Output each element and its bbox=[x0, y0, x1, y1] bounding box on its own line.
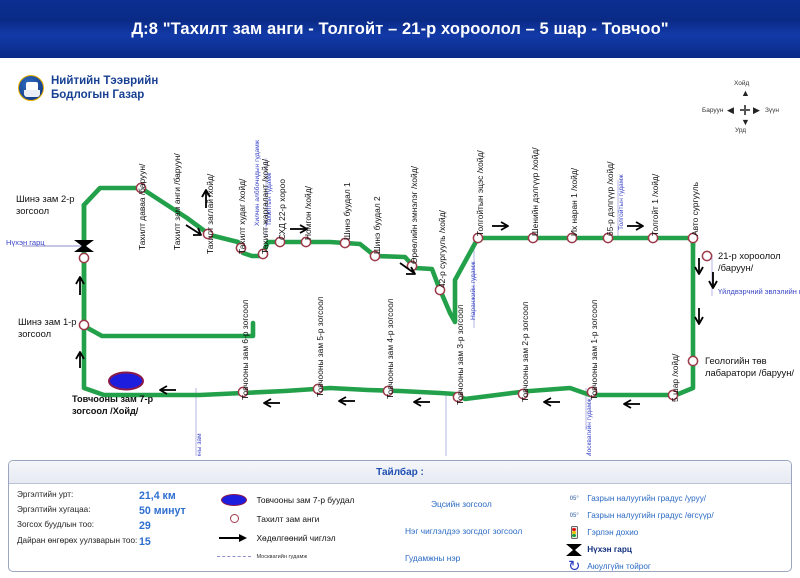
grade-up-icon: 05° bbox=[561, 496, 587, 502]
legend-right-row: Гэрлэн дохио bbox=[561, 524, 787, 541]
legend-stat-value: 15 bbox=[139, 536, 151, 548]
legend-symbol-label: Товчооны зам 7-р буудал bbox=[256, 495, 354, 505]
terminal-label-line2: зогсоол /Хойд/ bbox=[72, 406, 153, 418]
stop-label-line2: /баруун/ bbox=[718, 262, 781, 274]
stop-label-65r-delguur: 65-р дэлгүүр /хойд/ bbox=[605, 162, 616, 236]
legend-panel: Тайлбар : Эргэлтийн урт: 21,4 км Эргэлти… bbox=[8, 460, 792, 572]
legend-stat-row: Дайран өнгөрөх уулзварын тоо: 15 bbox=[17, 536, 208, 548]
roundabout-icon: ↻ bbox=[561, 560, 587, 572]
legend-right-row: 05° Газрын налуугийн градус /өгсүүр/ bbox=[561, 507, 787, 524]
stop-label-5-shar: 5 шар /хойд/ bbox=[670, 354, 681, 402]
legend-right-label: Аюулгүйн тойрог bbox=[587, 562, 651, 571]
legend-right-column: 05° Газрын налуугийн градус /уруу/ 05° Г… bbox=[561, 490, 787, 572]
stop-label-tovchoony-zam-4r: Товчооны зам 4-р зогсоол bbox=[385, 299, 396, 399]
stop-label-avto-surguuli: Авто сургууль bbox=[690, 182, 701, 236]
street-label-tolgoityn: Толгойтын гудамж bbox=[618, 174, 626, 230]
street-label-uildverchnii: Үйлдвэрчний эвлэлийн гудамж bbox=[718, 288, 790, 297]
stop-label-tovchoony-zam-1r: Товчооны зам 1-р зогсоол bbox=[589, 300, 600, 400]
stop-label-42r-surguuli: 42-р сургууль /хойд/ bbox=[437, 210, 448, 288]
legend-stat-label: Дайран өнгөрөх уулзварын тоо: bbox=[17, 536, 139, 546]
stop-label-tovchoony-zam-6r: Товчооны зам 6-р зогсоол bbox=[240, 300, 251, 400]
legend-stat-row: Эргэлтийн хугацаа: 50 минут bbox=[17, 505, 208, 517]
legend-header: Тайлбар : bbox=[9, 461, 791, 484]
legend-symbols-column: Товчооны зам 7-р буудал Тахилт зам анги … bbox=[208, 490, 403, 572]
legend-right-label: Нүхэн гарц bbox=[587, 545, 632, 554]
legend-middle-label: Эцсийн зогсоол bbox=[405, 490, 561, 517]
legend-stat-label: Эргэлтийн хугацаа: bbox=[17, 505, 139, 515]
stop-label-shenii-delguur: Шенийн дэлгүүр /хойд/ bbox=[530, 147, 541, 236]
stop-label-shd-22r-horoo: СХД 22-р хороо bbox=[277, 179, 288, 240]
stop-label-geologiin-tuv: Геологийн төв лабаратори /баруун/ bbox=[705, 355, 794, 379]
stop-label-shine-zam-2r: Шинэ зам 2-р зогсоол bbox=[16, 193, 75, 217]
stop-label-line1: Шинэ зам 1-р bbox=[18, 316, 77, 328]
blue-oval-terminal-icon bbox=[212, 494, 256, 506]
legend-right-label: Газрын налуугийн градус /өгсүүр/ bbox=[587, 511, 713, 520]
legend-symbol-row: Хөдөлгөөний чиглэл bbox=[212, 528, 403, 547]
legend-symbol-label: Хөдөлгөөний чиглэл bbox=[256, 533, 335, 543]
route-path bbox=[84, 205, 253, 336]
legend-stat-row: Зогсох буудлын тоо: 29 bbox=[17, 520, 208, 532]
legend-stat-label: Эргэлтийн урт: bbox=[17, 490, 139, 500]
legend-header-text: Тайлбар : bbox=[376, 467, 424, 478]
terminal-label-line1: Товчооны зам 7-р bbox=[72, 394, 153, 406]
legend-right-row: Нүхэн гарц bbox=[561, 541, 787, 558]
stop-label-line2: зогсоол bbox=[18, 328, 77, 340]
underpass-bowtie-glyph bbox=[565, 543, 583, 557]
legend-symbol-label: Москвагийн гудамж bbox=[256, 554, 307, 560]
stop-label-shine-buudal-1: Шинэ буудал 1 bbox=[342, 182, 353, 240]
stop-label-line2: лабаратори /баруун/ bbox=[705, 367, 794, 379]
legend-symbol-row: Товчооны зам 7-р буудал bbox=[212, 490, 403, 509]
stop-marker[interactable] bbox=[702, 251, 711, 260]
legend-symbol-row: Тахилт зам анги bbox=[212, 509, 403, 528]
legend-right-label: Газрын налуугийн градус /уруу/ bbox=[587, 494, 706, 503]
stop-label-tahilt-hudag: Тахилт худаг /хойд/ bbox=[237, 179, 248, 254]
legend-body: Эргэлтийн урт: 21,4 км Эргэлтийн хугацаа… bbox=[9, 484, 791, 572]
stop-label-ih-naran-1: Их наран 1 /хойд/ bbox=[569, 168, 580, 236]
legend-stat-row: Эргэлтийн урт: 21,4 км bbox=[17, 490, 208, 502]
stop-label-shine-zam-1r: Шинэ зам 1-р зогсоол bbox=[18, 316, 77, 340]
title-bar: Д:8 "Тахилт зам анги - Толгойт – 21-р хо… bbox=[0, 0, 800, 58]
page-title: Д:8 "Тахилт зам анги - Толгойт – 21-р хо… bbox=[131, 20, 668, 39]
stop-label-line1: 21-р хороолол bbox=[718, 250, 781, 262]
street-label-moskvagiin: Москвагийн гудамж bbox=[586, 398, 594, 456]
underpass-label: Нүхэн гарц bbox=[6, 238, 45, 247]
stop-label-tovchoony-zam-3r: Товчооны зам 3-р зогсоол bbox=[455, 305, 466, 405]
legend-middle-label: Гудамжны нэр bbox=[405, 544, 561, 571]
street-label-tahiltyn: Тахилтын гудамж bbox=[266, 173, 274, 226]
stop-marker[interactable] bbox=[79, 253, 88, 262]
stop-label-tovchoony-zam-5r: Товчооны зам 5-р зогсоол bbox=[315, 297, 326, 397]
stop-marker[interactable] bbox=[688, 356, 697, 365]
underpass-icon bbox=[561, 543, 587, 557]
stop-marker[interactable] bbox=[79, 320, 88, 329]
legend-right-row: ↻ Аюулгүйн тойрог bbox=[561, 558, 787, 572]
legend-right-label: Гэрлэн дохио bbox=[587, 528, 638, 537]
stop-label-line1: Геологийн төв bbox=[705, 355, 794, 367]
black-arrow-icon bbox=[212, 534, 256, 542]
street-label-hilchin: Хилчин алббочидын гудамж bbox=[254, 140, 262, 226]
street-label-tovchoony-zam: Товчооны зам bbox=[196, 433, 204, 456]
legend-stats-column: Эргэлтийн урт: 21,4 км Эргэлтийн хугацаа… bbox=[17, 490, 208, 572]
terminal-stop-label: Товчооны зам 7-р зогсоол /Хойд/ bbox=[72, 394, 153, 417]
stop-label-tolgoityn-etses: Толгойтын эцэс /хойд/ bbox=[475, 150, 486, 236]
traffic-light-icon bbox=[561, 526, 587, 539]
stop-label-urulin-emneleg: Өрөөлийн эмнэлэг /хойд/ bbox=[409, 166, 420, 264]
legend-symbol-label: Тахилт зам анги bbox=[256, 514, 319, 524]
stop-label-tahilt-zam-angi: Тахилт зам анги /баруун/ bbox=[172, 153, 183, 250]
stop-label-nomgon: Номгон /хойд/ bbox=[303, 186, 314, 240]
open-circle-stop-icon bbox=[212, 514, 256, 523]
stop-label-tolgoit-1: Толгойт 1 /хойд/ bbox=[650, 174, 661, 236]
legend-symbol-row: Москвагийн гудамж bbox=[212, 547, 403, 566]
stop-label-tahilt-davaa: Тахилт даваа /баруун/ bbox=[137, 164, 148, 250]
grade-down-icon: 05° bbox=[561, 513, 587, 519]
legend-stat-value: 29 bbox=[139, 520, 151, 532]
stop-label-tovchoony-zam-2r: Товчооны зам 2-р зогсоол bbox=[520, 302, 531, 402]
stop-markers-other bbox=[79, 251, 711, 401]
terminal-stop-marker[interactable] bbox=[109, 373, 143, 390]
legend-stat-value: 21,4 км bbox=[139, 490, 176, 502]
legend-middle-column: Эцсийн зогсоол Нэг чиглэлдээ зогсдог зог… bbox=[403, 490, 561, 572]
legend-middle-label: Нэг чиглэлдээ зогсдог зогсоол bbox=[405, 517, 561, 544]
stop-label-line1: Шинэ зам 2-р bbox=[16, 193, 75, 205]
stop-label-line2: зогсоол bbox=[16, 205, 75, 217]
dashed-line-icon bbox=[212, 556, 256, 557]
legend-stat-label: Зогсох буудлын тоо: bbox=[17, 520, 139, 530]
street-label-naranjiin: Наранжийн гудамж bbox=[470, 261, 478, 320]
stop-label-21r-horoolol: 21-р хороолол /баруун/ bbox=[718, 250, 781, 274]
stop-label-tahilt-zaglai: Тахилт заглай /хойд/ bbox=[205, 174, 216, 254]
route-map-canvas: Нийтийн Тээврийн Бодлогын Газар Хойд ▲ Б… bbox=[0, 58, 800, 456]
legend-stat-value: 50 минут bbox=[139, 505, 186, 517]
legend-right-row: 05° Газрын налуугийн градус /уруу/ bbox=[561, 490, 787, 507]
stop-label-shine-buudal-2: Шинэ буудал 2 bbox=[372, 196, 383, 254]
